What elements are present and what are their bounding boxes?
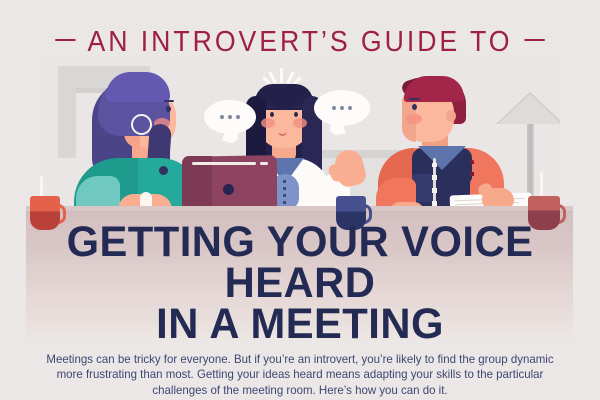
man-cheek bbox=[406, 114, 422, 124]
meeting-table-edge bbox=[26, 206, 573, 211]
page-title-line-1: GETTING YOUR VOICE HEARD bbox=[67, 218, 534, 307]
illustration-scene bbox=[46, 62, 560, 214]
speech-bubble-left-icon bbox=[204, 100, 256, 134]
lamp-shade-inner-icon bbox=[498, 94, 560, 124]
kicker-heading: AN INTROVERT’S GUIDE TO bbox=[24, 26, 576, 59]
man-ear bbox=[446, 110, 456, 122]
laptop-screen-bar-right bbox=[260, 162, 268, 165]
woman-left-hair-highlight bbox=[106, 72, 170, 102]
laptop-logo-icon bbox=[223, 184, 234, 195]
woman-center-brow-right bbox=[291, 106, 301, 108]
man-eye bbox=[412, 104, 417, 110]
man-brow bbox=[409, 98, 420, 100]
kicker-dash-left bbox=[55, 39, 75, 41]
woman-left-eye bbox=[166, 106, 171, 112]
intro-paragraph: Meetings can be tricky for everyone. But… bbox=[45, 352, 556, 398]
speech-bubble-right-icon bbox=[314, 90, 370, 126]
laptop-screen-bar bbox=[192, 162, 256, 165]
infographic-page: AN INTROVERT’S GUIDE TO bbox=[0, 0, 600, 400]
woman-center-cheek-right bbox=[293, 118, 307, 128]
page-title-line-2: IN A MEETING bbox=[9, 304, 591, 345]
woman-center-eye-left bbox=[270, 112, 274, 117]
woman-center-eye-right bbox=[294, 112, 298, 117]
woman-center-brow-left bbox=[267, 106, 277, 108]
speech-bubble-left-dots bbox=[204, 100, 256, 134]
woman-left-watch bbox=[159, 166, 168, 175]
kicker-text: AN INTROVERT’S GUIDE TO bbox=[87, 26, 512, 58]
speech-bubble-right-dots bbox=[314, 90, 370, 126]
man-hand-right bbox=[482, 188, 514, 208]
kicker-dash-right bbox=[524, 39, 544, 41]
woman-center-cheek-left bbox=[261, 118, 275, 128]
woman-center-scarf-dots bbox=[283, 180, 286, 206]
page-title: GETTING YOUR VOICE HEARD IN A MEETING bbox=[9, 222, 591, 345]
woman-left-brow bbox=[164, 100, 174, 102]
